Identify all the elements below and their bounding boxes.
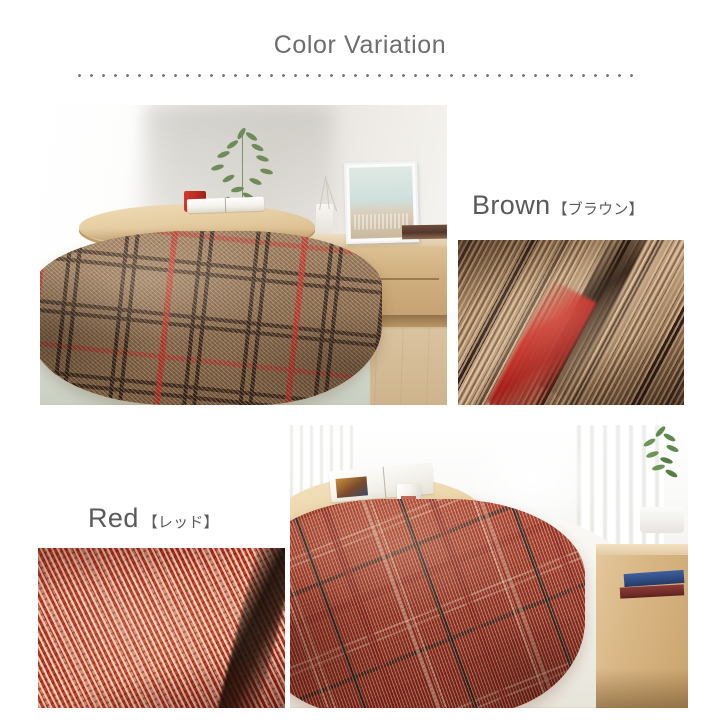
red-variant-label: Red【レッド】	[88, 505, 219, 532]
brown-plaid-futon	[40, 231, 382, 405]
red-room-photo[interactable]	[290, 425, 688, 708]
stacked-books	[402, 225, 447, 239]
leaf	[250, 143, 264, 153]
brown-variant-label: Brown【ブラウン】	[472, 192, 644, 219]
plant-pot	[640, 507, 684, 532]
leaf	[211, 163, 225, 171]
open-book	[186, 197, 264, 213]
red-plaid-futon	[290, 499, 585, 708]
brown-fabric-vignette	[458, 240, 684, 405]
red-label-name: Red	[88, 503, 139, 533]
leaf	[222, 173, 236, 184]
brown-room-photo[interactable]	[40, 105, 447, 405]
leaf	[245, 131, 259, 142]
leaf	[665, 468, 679, 479]
leaf	[662, 432, 676, 443]
leaf	[225, 138, 239, 149]
leaf	[666, 444, 680, 454]
leaf	[643, 437, 657, 448]
brown-label-name: Brown	[472, 190, 551, 220]
leaf	[256, 154, 270, 163]
red-scene	[290, 425, 688, 708]
dotted-divider	[78, 74, 640, 77]
futon-shading	[290, 499, 585, 708]
futon-shading	[40, 231, 382, 405]
leaf	[259, 167, 273, 175]
brown-label-kana: 【ブラウン】	[553, 201, 644, 218]
side-cabinet-shadow	[596, 668, 688, 708]
page-title: Color Variation	[0, 33, 720, 58]
leaf	[248, 177, 262, 187]
leaf	[660, 456, 674, 465]
red-fabric-vignette	[38, 548, 285, 708]
red-fabric-swatch-photo[interactable]	[38, 548, 285, 708]
red-label-kana: 【レッド】	[143, 514, 219, 531]
brown-fabric-swatch-photo[interactable]	[458, 240, 684, 405]
leaf	[652, 464, 666, 472]
leaf	[646, 450, 660, 459]
brown-scene	[40, 105, 447, 405]
side-cabinet-top	[596, 544, 688, 555]
leaf	[216, 150, 230, 160]
